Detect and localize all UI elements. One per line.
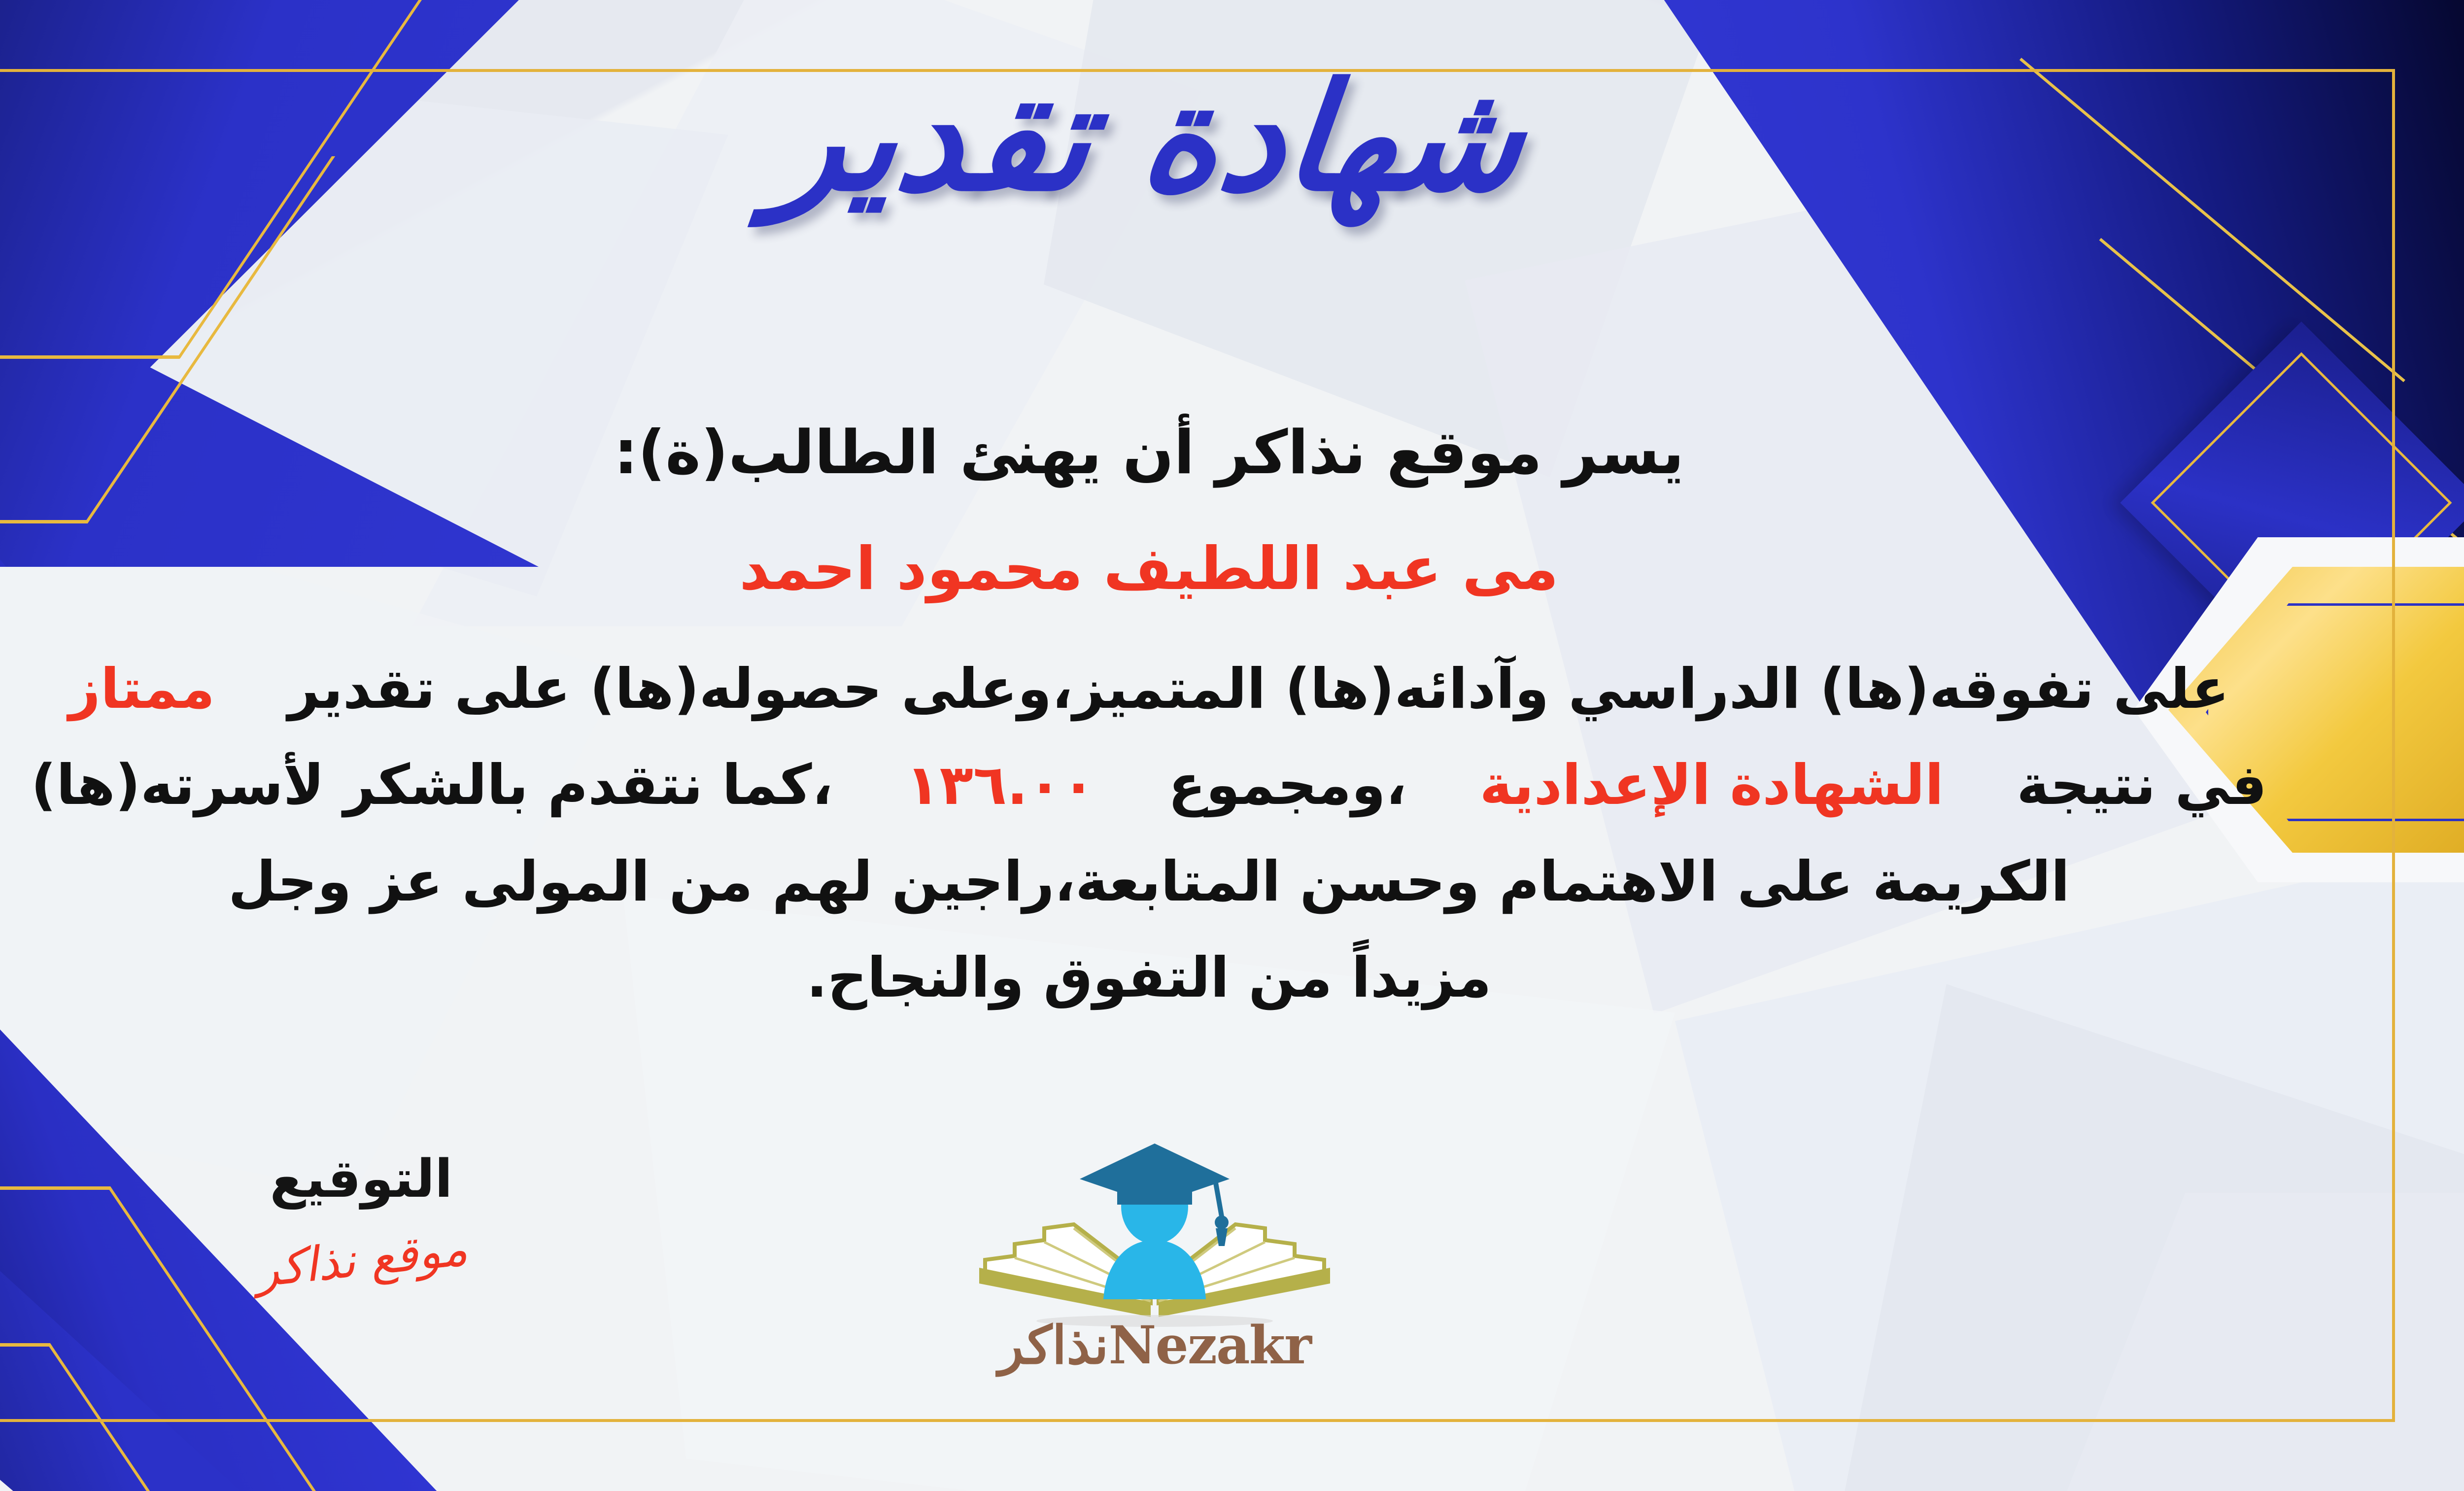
- certificate-canvas: شهادة تقدير يسر موقع نذاكر أن يهنئ الطال…: [0, 0, 2464, 1491]
- signature-mark: موقع نذاكر: [253, 1221, 470, 1298]
- exam-result-line: في نتيجة الشهادة الإعدادية ،ومجموع ١٣٦.٠…: [0, 741, 2316, 830]
- grade-value: ممتاز: [68, 657, 215, 721]
- exam-prefix: في نتيجة: [2017, 753, 2267, 817]
- certificate-body: يسر موقع نذاكر أن يهنئ الطالب(ة): مى عبد…: [0, 404, 2316, 1030]
- exam-name: الشهادة الإعدادية: [1479, 753, 1944, 817]
- graduate-on-open-book-logo-icon: [958, 1134, 1352, 1331]
- family-thanks-line: الكريمة على الاهتمام وحسن المتابعة،راجين…: [0, 837, 2316, 927]
- achievement-text: على تفوقه(ها) الدراسي وآدائه(ها) المتميز…: [288, 657, 2229, 721]
- page-title: شهادة تقدير: [0, 64, 2464, 212]
- thanks-prefix: ،كما نتقدم بالشكر لأسرته(ها): [31, 753, 833, 817]
- signature-label: التوقيع: [208, 1148, 514, 1209]
- student-name: مى عبد اللطيف محمود احمد: [0, 521, 2316, 617]
- greeting-line: يسر موقع نذاكر أن يهنئ الطالب(ة):: [0, 404, 2316, 502]
- signature-block: التوقيع موقع نذاكر: [208, 1148, 514, 1287]
- logo-wordmark: Nezakrنذاكر: [958, 1314, 1352, 1376]
- total-score-value: ١٣٦.٠٠: [906, 753, 1095, 817]
- achievement-line: على تفوقه(ها) الدراسي وآدائه(ها) المتميز…: [0, 645, 2316, 734]
- total-label: ،ومجموع: [1168, 753, 1406, 817]
- brand-logo-block: Nezakrنذاكر: [958, 1134, 1352, 1376]
- closing-wish-line: مزيداً من التفوق والنجاح.: [0, 934, 2316, 1023]
